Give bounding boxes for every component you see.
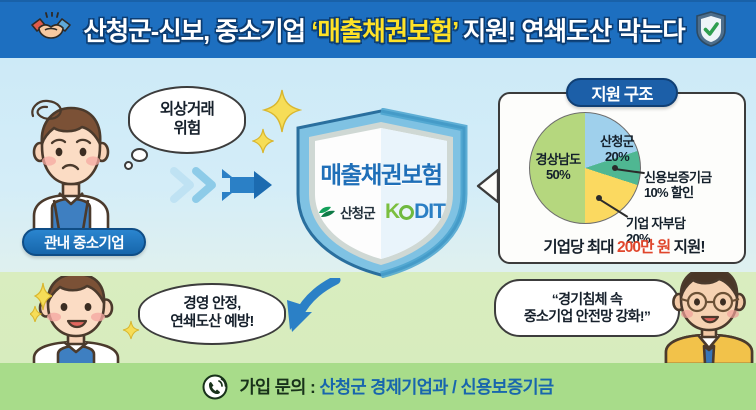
pie-label-sancheong-name: 산청군	[600, 134, 634, 149]
shield-logos: 산청군 KDIT	[291, 200, 471, 224]
pie-label-company-share-name: 기업 자부담	[626, 216, 685, 231]
handshake-icon	[29, 12, 73, 46]
speech-bubble-safety-net-line-2: 중소기업 안전망 강화!”	[524, 308, 650, 325]
title-part-1: 산청군-신보, 중소기업	[83, 18, 311, 46]
pie-label-sancheong-value: 20%	[605, 149, 629, 164]
panel-footer-highlight: 200만 원	[617, 239, 670, 256]
footer-contact-text: 가입 문의 : 산청군 경제기업과 / 신용보증기금	[239, 374, 553, 399]
curved-arrow-down-left-icon	[286, 278, 342, 345]
pie-label-gyeongsangnamdo: 경상남도 50%	[530, 152, 586, 182]
pie-label-sancheong: 산청군 20%	[594, 134, 640, 164]
thought-bubble-puff-large	[131, 148, 148, 162]
sancheong-emblem-icon	[317, 204, 337, 220]
pie-label-credit-guarantee-value: 10% 할인	[644, 185, 693, 200]
speech-bubble-safety-net: “경기침체 속 중소기업 안전망 강화!”	[494, 279, 680, 337]
footer-bar: 가입 문의 : 산청군 경제기업과 / 신용보증기금	[0, 363, 756, 410]
logo-sancheong-label: 산청군	[340, 202, 375, 222]
government-official-character	[662, 272, 756, 364]
title-bar: 산청군-신보, 중소기업 ‘매출채권보험’ 지원! 연쇄도산 막는다	[0, 0, 756, 58]
pie-label-credit-guarantee: 신용보증기금 10% 할인	[644, 170, 744, 200]
panel-footer-suffix: 지원!	[670, 239, 704, 256]
sparkle-icon-bottom-left-2	[122, 320, 140, 345]
sparkle-icon-bottom-left	[30, 282, 52, 327]
panel-footer-prefix: 기업당 최대	[543, 239, 617, 256]
logo-kodit: KDIT	[385, 200, 445, 224]
phone-call-icon	[202, 374, 228, 400]
title-highlight: ‘매출채권보험’	[311, 18, 457, 46]
logo-sancheong: 산청군	[317, 202, 375, 222]
logo-kodit-k: K	[385, 200, 399, 223]
logo-kodit-o-ring	[399, 205, 414, 220]
shield-title: 매출채권보험	[291, 156, 471, 190]
infographic-poster: 산청군-신보, 중소기업 ‘매출채권보험’ 지원! 연쇄도산 막는다	[0, 0, 756, 410]
footer-highlight: 산청군 경제기업과 / 신용보증기금	[319, 377, 553, 397]
shield-check-icon	[695, 10, 727, 48]
pie-label-gyeongsangnamdo-name: 경상남도	[535, 152, 580, 167]
thought-bubble-risk: 외상거래 위험	[128, 86, 246, 154]
scribble-worry-icon	[28, 96, 68, 129]
badge-local-sme: 관내 중소기업	[22, 228, 146, 256]
sparkle-icon-small	[252, 128, 274, 159]
thought-bubble-puff-small	[124, 161, 133, 170]
title-part-2: 지원! 연쇄도산 막는다	[457, 18, 684, 46]
speech-bubble-stability-line-2: 연쇄도산 예방!	[170, 314, 253, 332]
support-structure-panel: 경상남도 50% 산청군 20% 신용보증기금 10% 할인 기업 자부담 20…	[498, 92, 746, 264]
central-shield-badge: 매출채권보험 산청군 KDIT	[291, 108, 471, 278]
footer-prefix: 가입 문의 :	[239, 377, 319, 397]
panel-tag-support-structure: 지원 구조	[566, 78, 678, 107]
thought-bubble-line-2: 위험	[173, 120, 200, 139]
thought-bubble-line-1: 외상거래	[160, 101, 214, 120]
logo-kodit-rest: DIT	[414, 200, 445, 223]
pie-label-gyeongsangnamdo-value: 50%	[546, 167, 570, 182]
page-title: 산청군-신보, 중소기업 ‘매출채권보험’ 지원! 연쇄도산 막는다	[83, 11, 684, 48]
speech-bubble-stability: 경영 안정, 연쇄도산 예방!	[138, 283, 286, 345]
speech-bubble-stability-line-1: 경영 안정,	[183, 296, 240, 314]
triple-chevron-right-icon	[168, 163, 278, 212]
panel-footer-note: 기업당 최대 200만 원 지원!	[500, 235, 748, 257]
speech-bubble-safety-net-line-1: “경기침체 속	[552, 291, 622, 308]
arrow-left-to-shield-icon	[474, 168, 500, 209]
pie-label-credit-guarantee-name: 신용보증기금	[644, 170, 712, 185]
